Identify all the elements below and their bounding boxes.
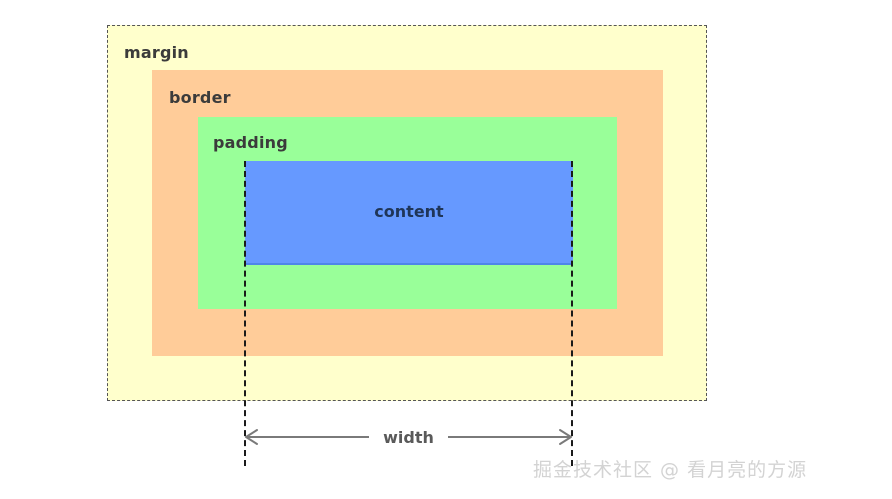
border-label: border xyxy=(169,88,231,107)
width-guide-line-right xyxy=(571,161,573,466)
content-label: content xyxy=(245,202,573,221)
margin-label: margin xyxy=(124,43,189,62)
box-model-diagram: margin border padding content width 掘金技术… xyxy=(0,0,892,499)
watermark-text: 掘金技术社区 @ 看月亮的方源 xyxy=(533,455,807,482)
width-guide-line-left xyxy=(244,161,246,466)
padding-label: padding xyxy=(213,133,288,152)
width-dimension-label: width xyxy=(244,428,573,447)
